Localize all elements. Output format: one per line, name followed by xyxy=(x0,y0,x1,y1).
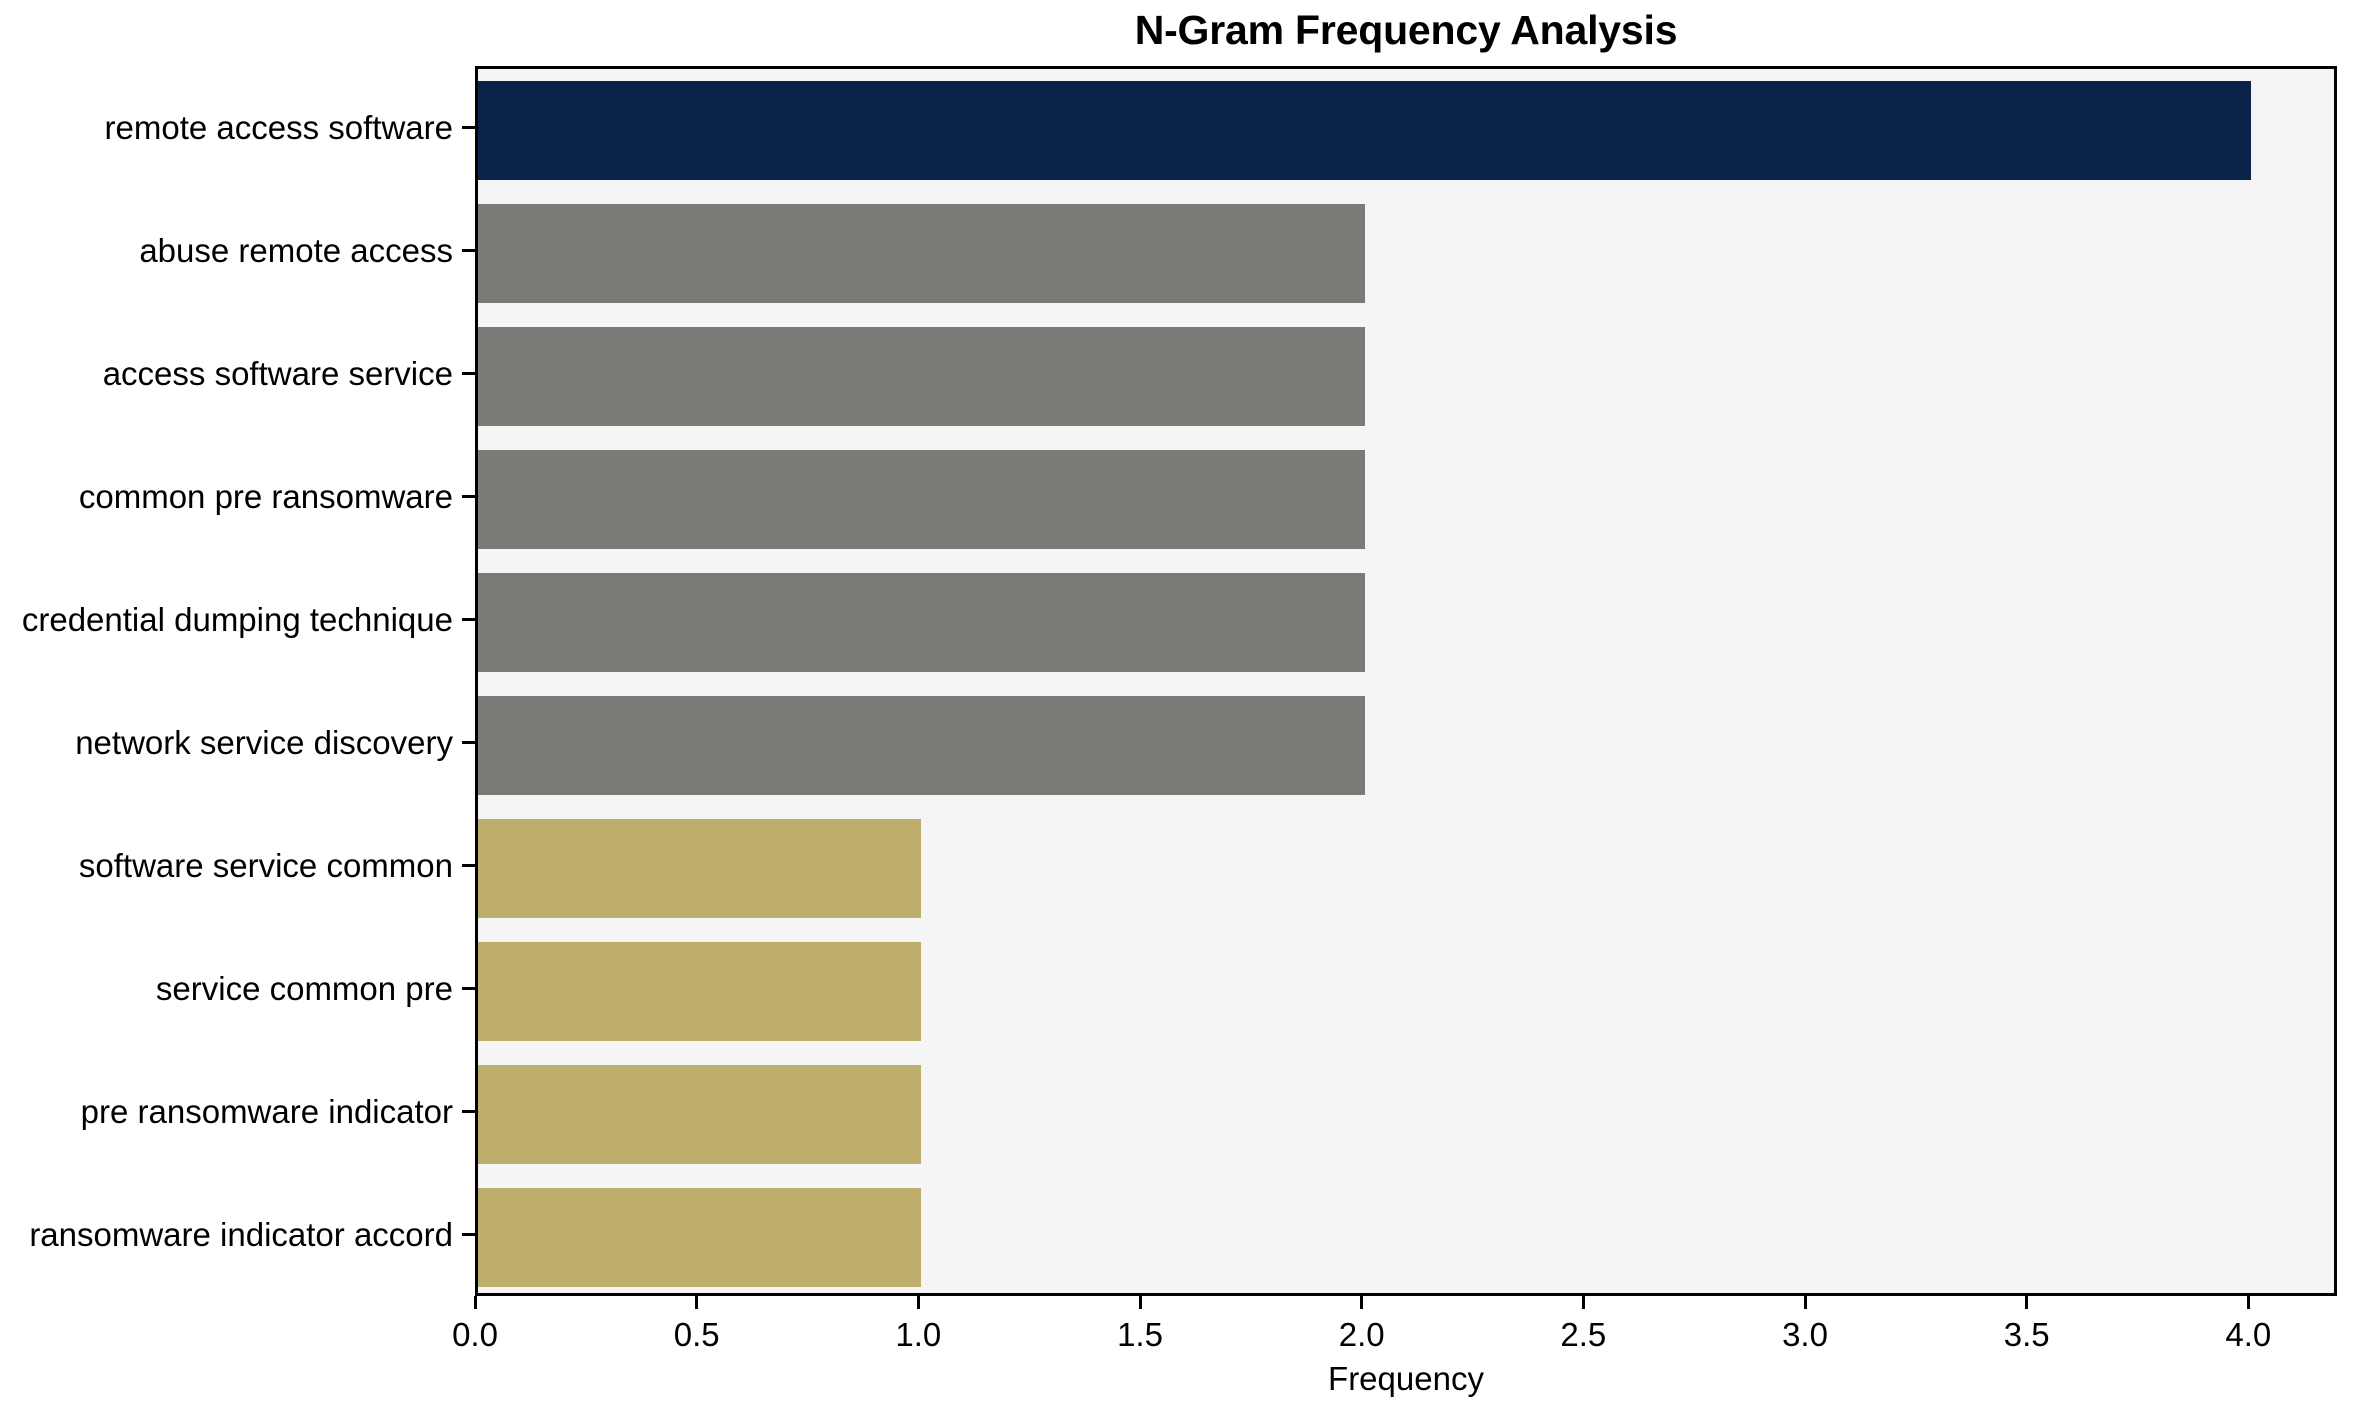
y-tick-label: credential dumping technique xyxy=(22,599,453,641)
bar-row xyxy=(478,1065,2334,1163)
y-tick-label: ransomware indicator accord xyxy=(29,1214,453,1256)
bar[interactable] xyxy=(478,1188,921,1286)
y-tick-mark xyxy=(462,249,475,252)
bar[interactable] xyxy=(478,327,1365,425)
bar[interactable] xyxy=(478,450,1365,548)
y-tick-mark xyxy=(462,126,475,129)
x-tick-label: 3.0 xyxy=(1745,1314,1865,1356)
bars-layer xyxy=(478,69,2334,1293)
chart-figure: N-Gram Frequency Analysis remote access … xyxy=(0,0,2354,1414)
bar-row xyxy=(478,573,2334,671)
plot-area xyxy=(475,66,2337,1296)
x-tick-mark xyxy=(474,1296,477,1309)
x-tick-label: 4.0 xyxy=(2188,1314,2308,1356)
bar[interactable] xyxy=(478,942,921,1040)
bar[interactable] xyxy=(478,81,2251,179)
x-tick-mark xyxy=(1360,1296,1363,1309)
bar-row xyxy=(478,450,2334,548)
x-tick-mark xyxy=(1804,1296,1807,1309)
bar-row xyxy=(478,696,2334,794)
x-tick-mark xyxy=(1139,1296,1142,1309)
y-tick-mark xyxy=(462,495,475,498)
y-tick-mark xyxy=(462,864,475,867)
x-tick-mark xyxy=(695,1296,698,1309)
y-tick-mark xyxy=(462,741,475,744)
x-tick-label: 0.5 xyxy=(637,1314,757,1356)
y-tick-label: service common pre xyxy=(156,968,453,1010)
x-tick-label: 3.5 xyxy=(1967,1314,2087,1356)
x-tick-mark xyxy=(2247,1296,2250,1309)
bar[interactable] xyxy=(478,696,1365,794)
y-tick-label: software service common xyxy=(79,845,453,887)
y-tick-label: abuse remote access xyxy=(139,230,453,272)
y-axis: remote access softwareabuse remote acces… xyxy=(0,66,475,1296)
y-tick-label: remote access software xyxy=(105,107,453,149)
x-tick-label: 0.0 xyxy=(415,1314,535,1356)
bar[interactable] xyxy=(478,204,1365,302)
bar-row xyxy=(478,81,2334,179)
x-tick-label: 1.5 xyxy=(1080,1314,1200,1356)
bar[interactable] xyxy=(478,819,921,917)
x-tick-label: 2.5 xyxy=(1523,1314,1643,1356)
y-tick-label: access software service xyxy=(103,353,453,395)
bar-row xyxy=(478,204,2334,302)
x-tick-label: 1.0 xyxy=(858,1314,978,1356)
y-tick-mark xyxy=(462,372,475,375)
y-tick-label: pre ransomware indicator xyxy=(81,1091,453,1133)
y-tick-mark xyxy=(462,1233,475,1236)
bar-row xyxy=(478,1188,2334,1286)
bar-row xyxy=(478,819,2334,917)
x-axis: 0.00.51.01.52.02.53.03.54.0 xyxy=(475,1296,2337,1366)
bar-row xyxy=(478,327,2334,425)
y-tick-mark xyxy=(462,618,475,621)
bar-row xyxy=(478,942,2334,1040)
bar[interactable] xyxy=(478,1065,921,1163)
bar[interactable] xyxy=(478,573,1365,671)
x-tick-label: 2.0 xyxy=(1302,1314,1422,1356)
y-tick-mark xyxy=(462,1110,475,1113)
y-tick-mark xyxy=(462,987,475,990)
x-tick-mark xyxy=(917,1296,920,1309)
x-axis-title: Frequency xyxy=(475,1358,2337,1400)
page-title: N-Gram Frequency Analysis xyxy=(475,2,2337,58)
y-tick-label: network service discovery xyxy=(75,722,453,764)
x-tick-mark xyxy=(2025,1296,2028,1309)
x-tick-mark xyxy=(1582,1296,1585,1309)
y-tick-label: common pre ransomware xyxy=(79,476,453,518)
